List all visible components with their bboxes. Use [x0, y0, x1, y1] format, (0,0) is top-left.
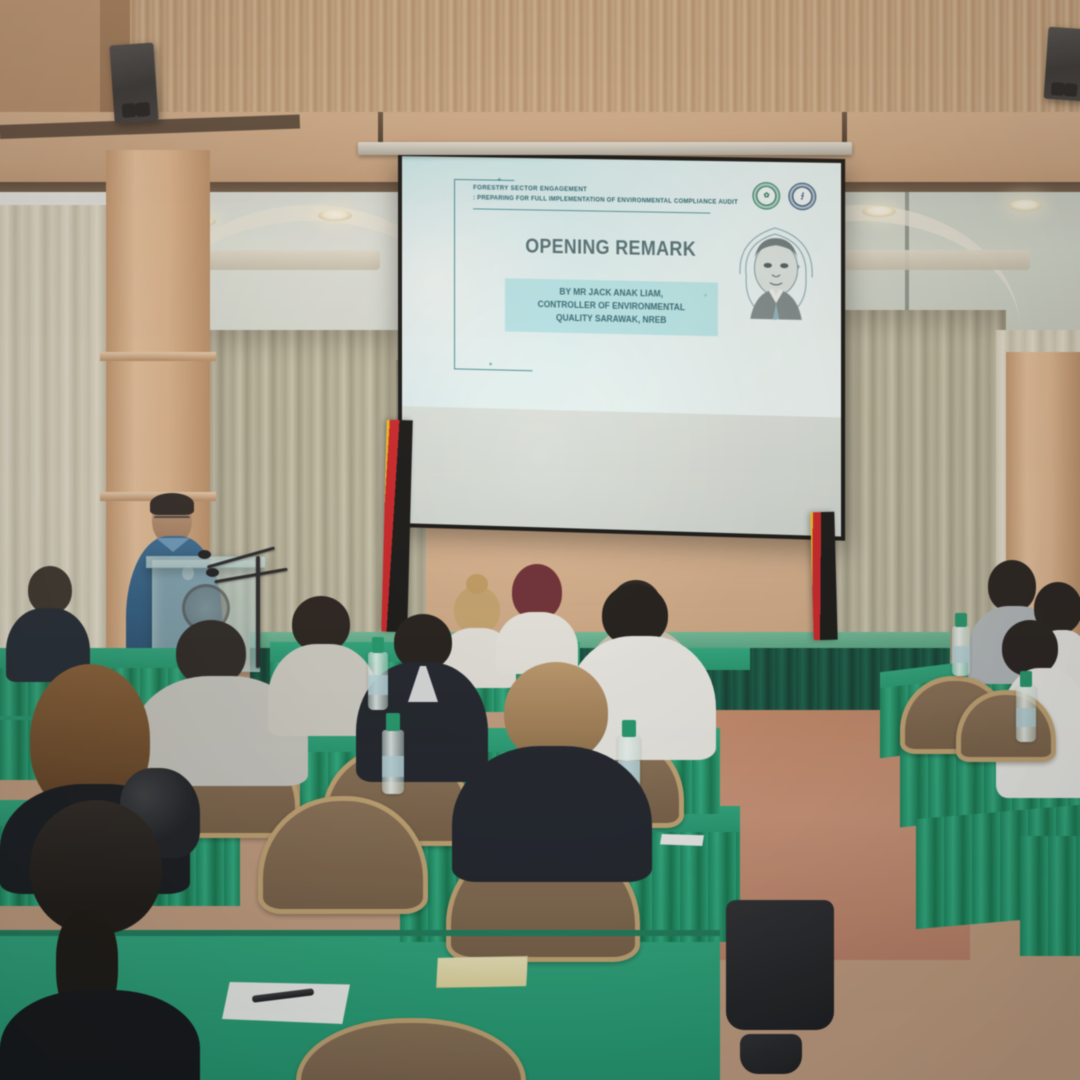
bottle-label — [952, 646, 970, 663]
audience-person-far-left — [6, 566, 90, 676]
downlight-2 — [318, 210, 352, 221]
audience-person-ponytail-foreground — [0, 800, 200, 1080]
forest-department-logo: ✿ — [753, 182, 781, 210]
presenter-glasses — [154, 516, 190, 524]
forest-department-logo-glyph: ✿ — [764, 192, 770, 200]
chair-row3-a[interactable] — [258, 796, 428, 914]
slide-byline: BY MR JACK ANAK LIAM, CONTROLLER OF ENVI… — [505, 278, 718, 336]
table-row4-right-skirt — [1020, 836, 1080, 956]
sarawak-flag-right — [810, 512, 837, 641]
presentation-slide: + + + + FORESTRY SECTOR ENGAGEMENT : PRE… — [402, 156, 841, 417]
slide-tick-top: + — [497, 176, 501, 183]
bottle-label — [1016, 708, 1036, 727]
slide-title: OPENING REMARK — [503, 235, 719, 262]
chair-backrest — [296, 1018, 526, 1080]
person-torso — [452, 746, 652, 882]
nreb-logo: ⨍ — [789, 182, 817, 210]
bottle-cap — [955, 613, 967, 627]
chair-row3-right[interactable] — [956, 690, 1056, 762]
screen-blank-lower-area — [402, 406, 841, 537]
document-on-row3-table[interactable] — [660, 834, 704, 846]
person-hair-bun — [466, 574, 488, 594]
bottle-cap — [1020, 671, 1033, 687]
column-left-band-1 — [100, 352, 216, 361]
water-bottle-row2-right[interactable] — [1016, 686, 1036, 742]
wall-speaker-left — [109, 43, 158, 124]
screen-hanger-left — [378, 112, 383, 146]
microphone-head-2[interactable] — [206, 568, 219, 577]
screen-hanger-right — [842, 112, 847, 146]
bottle-label — [382, 756, 404, 778]
backpack-on-floor — [726, 900, 834, 1030]
water-bottle-row2-b[interactable] — [382, 730, 404, 794]
screen-surface: + + + + FORESTRY SECTOR ENGAGEMENT : PRE… — [402, 156, 841, 536]
bottle-cap — [386, 713, 400, 731]
bottle-label — [368, 675, 388, 695]
projection-screen[interactable]: + + + + FORESTRY SECTOR ENGAGEMENT : PRE… — [398, 152, 845, 541]
sarawak-flag-left — [381, 420, 413, 633]
downlight-6 — [1008, 200, 1042, 211]
speaker-portrait-illustration — [736, 217, 818, 335]
audience-person-bald-center — [452, 662, 652, 872]
photo-canvas: + + + + FORESTRY SECTOR ENGAGEMENT : PRE… — [0, 0, 1080, 1080]
chair-backrest — [956, 690, 1056, 762]
chair-foreground[interactable] — [296, 1018, 526, 1080]
presenter-hair — [150, 493, 194, 515]
downlight-5 — [862, 206, 896, 217]
slide-tick-bottom: + — [489, 362, 493, 369]
slide-logo-row: ✿ ⨍ — [753, 182, 817, 211]
wall-speaker-right — [1044, 27, 1080, 102]
microphone-head-1[interactable] — [198, 550, 211, 559]
water-bottle-row1-right[interactable] — [952, 626, 970, 676]
note-card[interactable] — [436, 956, 528, 988]
water-bottle-row2-a[interactable] — [368, 652, 388, 710]
portrait-svg — [736, 217, 818, 335]
chair-backrest — [258, 796, 428, 914]
nreb-logo-glyph: ⨍ — [801, 192, 805, 200]
bottle-cap — [372, 637, 385, 653]
person-torso — [0, 990, 200, 1080]
person-head — [28, 566, 72, 614]
person-head — [988, 560, 1036, 612]
shoe-on-floor — [740, 1034, 802, 1074]
projection-screen-casing — [358, 142, 852, 155]
